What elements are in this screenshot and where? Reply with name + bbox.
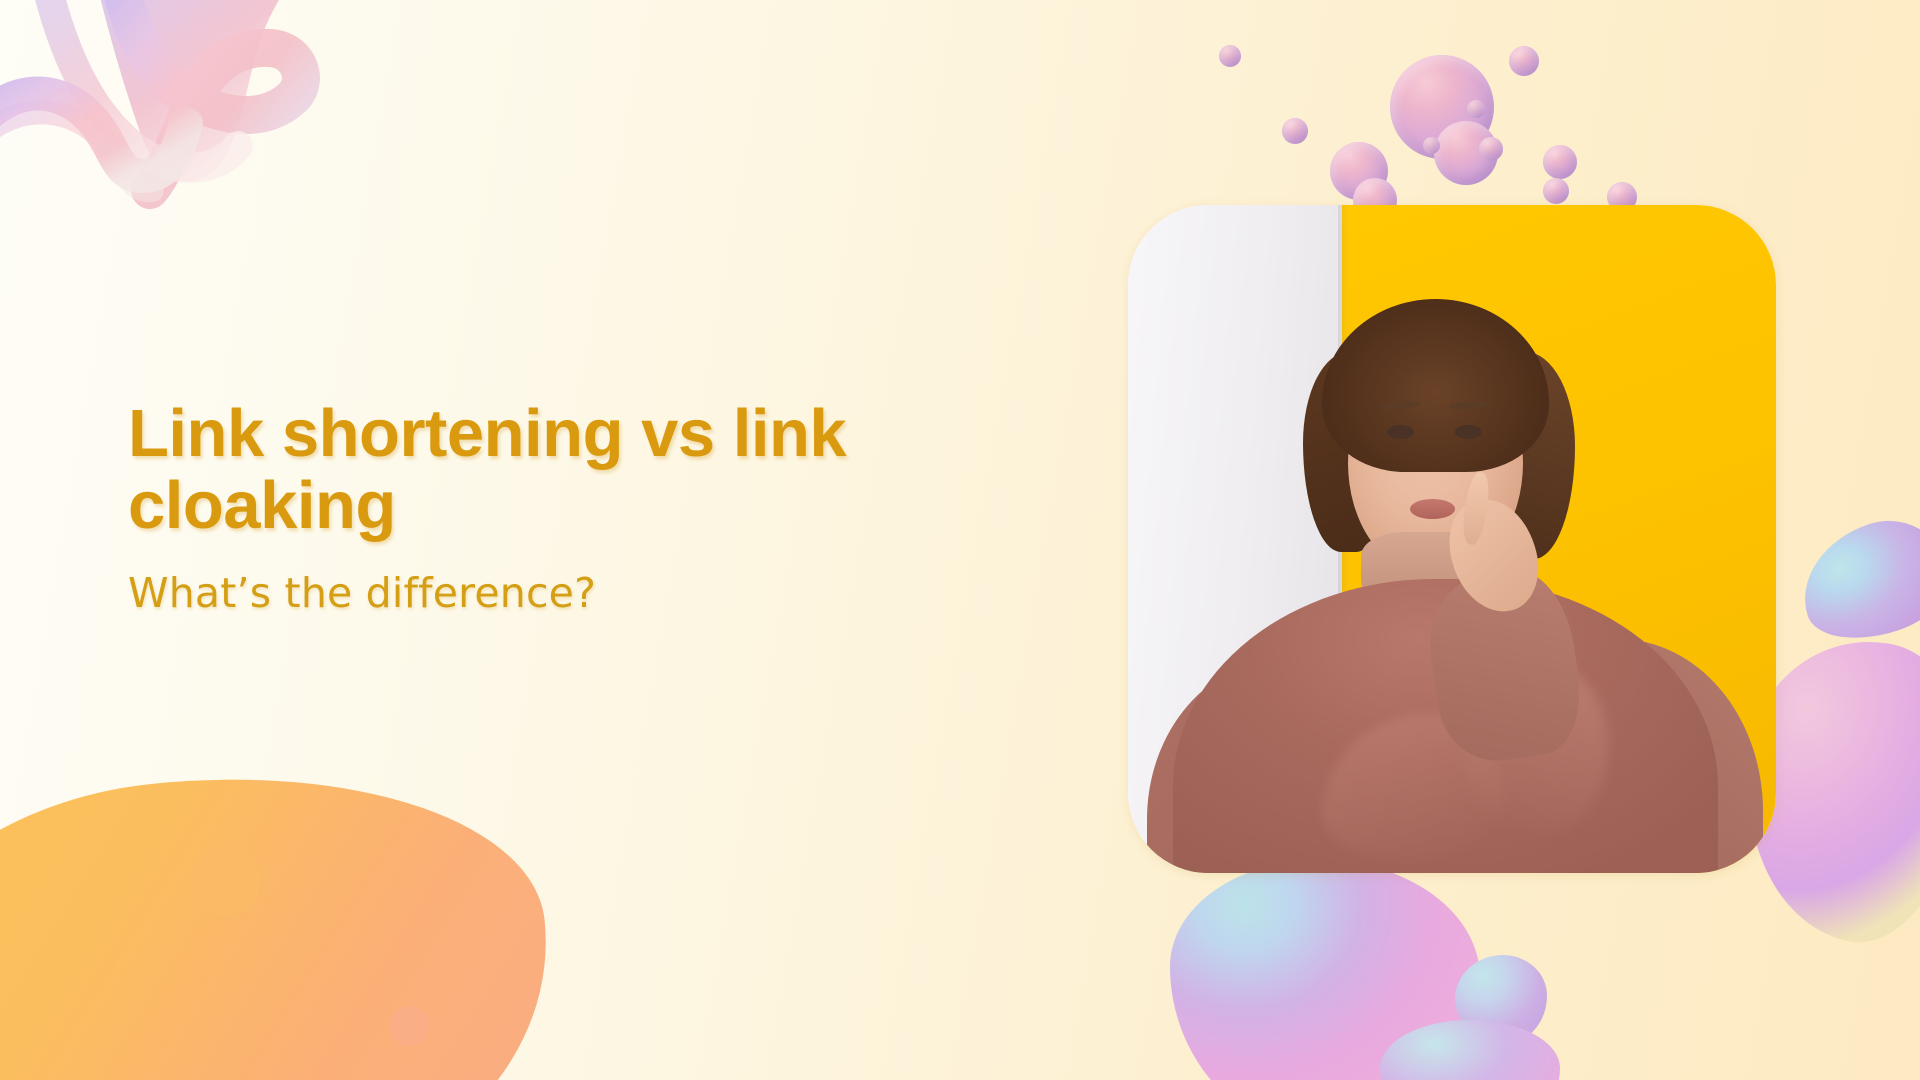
bubble-10 <box>1330 142 1388 200</box>
headline-block: Link shortening vs linkcloaking What’s t… <box>128 398 908 618</box>
yellow-circle-large <box>191 846 261 916</box>
bubble-4 <box>1434 121 1498 185</box>
bubble-5 <box>1423 137 1440 154</box>
bubble-3 <box>1467 100 1485 118</box>
iridescent-blob-bottom-large <box>1170 860 1480 1080</box>
bubble-13 <box>1282 118 1308 144</box>
bubble-8 <box>1543 178 1569 204</box>
bubble-12 <box>1219 45 1241 67</box>
iridescent-blob-right-top <box>1787 505 1920 656</box>
bubble-6 <box>1479 137 1503 161</box>
iridescent-blob-bottom-edge <box>1380 1020 1560 1080</box>
page-title: Link shortening vs linkcloaking <box>128 398 908 543</box>
bubble-2 <box>1509 46 1539 76</box>
ribbon-decor-swoop-a <box>118 0 301 190</box>
ribbon-decor-wave <box>0 93 186 176</box>
iridescent-blob-bottom-small <box>1455 955 1547 1043</box>
headline-line-1: Link shortening vs link <box>128 396 846 471</box>
headline-line-2: cloaking <box>128 468 396 543</box>
ribbon-decor-wave-shadow <box>0 112 152 190</box>
bubble-7 <box>1543 145 1577 179</box>
photo-person <box>1128 205 1776 873</box>
slide-canvas: Link shortening vs linkcloaking What’s t… <box>0 0 1920 1080</box>
ribbon-decor-swoop-b <box>46 0 238 168</box>
peach-circle-small <box>390 1006 430 1046</box>
person-lips <box>1410 499 1455 519</box>
photo-card <box>1128 205 1776 873</box>
ribbon-decor-upper-left <box>96 0 300 182</box>
yellow-blob-shape <box>0 745 570 1080</box>
bubble-1 <box>1390 55 1494 159</box>
page-subtitle: What’s the difference? <box>128 569 908 618</box>
photo-card-image <box>1128 205 1776 873</box>
person-hair-top <box>1322 299 1549 473</box>
